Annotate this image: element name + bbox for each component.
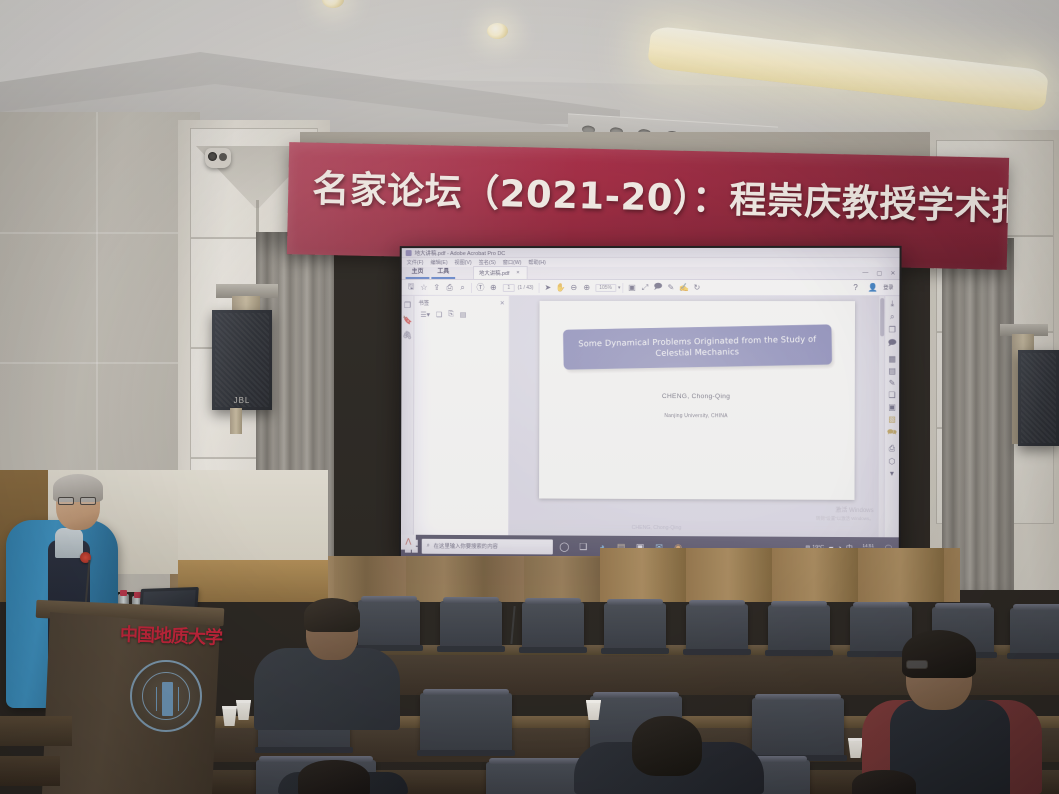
new-bookmark-icon[interactable]: ❏ xyxy=(436,311,442,319)
presenter-shirt-collar xyxy=(55,528,83,558)
slide-title-box: Some Dynamical Problems Originated from … xyxy=(562,324,831,369)
watermark-line2: 转到"设置"以激活 Windows。 xyxy=(816,515,874,523)
menu-sign[interactable]: 签名(S) xyxy=(479,259,496,266)
redact-icon[interactable]: 🗪 xyxy=(887,427,897,441)
account-icon[interactable]: 👤 xyxy=(866,281,879,294)
edit-pdf-icon[interactable]: ▤ xyxy=(888,366,896,375)
minimize-button[interactable]: — xyxy=(862,270,868,277)
slide-title: Some Dynamical Problems Originated from … xyxy=(563,333,832,361)
speaker-grille xyxy=(1021,353,1056,443)
document-tab[interactable]: 地大讲稿.pdf × xyxy=(473,266,527,279)
page-total-label: (1 / 43) xyxy=(518,284,534,290)
acrobat-toolbar: 🖫 ☆ ⇪ ⎙ ⌕ Ⓣ ⊕ 1 (1 / 43) ➤ ✋ ⊖ xyxy=(402,280,900,296)
star-icon[interactable]: ☆ xyxy=(417,281,430,294)
tab-tools[interactable]: 工具 xyxy=(431,265,455,279)
text-icon[interactable]: Ⓣ xyxy=(474,281,487,294)
zoom-control[interactable]: 105% ▾ xyxy=(595,283,620,291)
speaker-brand-label: JBL xyxy=(212,396,272,405)
search-tool-icon[interactable]: ⌕ xyxy=(890,312,895,322)
side-table xyxy=(0,756,60,786)
lecture-hall-photo: JBL 名家论坛（2021-20）：程崇庆教授学术报告会 地大讲稿.pdf - … xyxy=(0,0,1059,794)
window-title: 地大讲稿.pdf - Adobe Acrobat Pro DC xyxy=(415,249,506,257)
chair xyxy=(604,603,666,649)
hand-icon[interactable]: ✋ xyxy=(554,281,567,294)
search-icon[interactable]: ⌕ xyxy=(456,281,469,294)
right-speaker xyxy=(1018,350,1059,446)
chair xyxy=(686,604,748,650)
delete-bookmark-icon[interactable]: ⎘ xyxy=(448,311,454,319)
chair xyxy=(358,600,420,646)
close-icon[interactable]: × xyxy=(516,270,519,276)
bookmarks-header: 书签 ✕ xyxy=(414,296,508,309)
bookmarks-panel: 书签 ✕ ☰▾ ❏ ⎘ ▤ xyxy=(414,296,510,535)
pencil-icon[interactable]: ✎ xyxy=(664,281,677,294)
share-icon[interactable]: ⇪ xyxy=(430,281,443,294)
help-icon[interactable]: ? xyxy=(849,281,862,294)
projection-screen: 地大讲稿.pdf - Adobe Acrobat Pro DC 文件(F) 编辑… xyxy=(399,246,902,562)
bookmarks-icon[interactable]: 🔖 xyxy=(403,316,413,325)
audience-member-hair xyxy=(304,598,360,632)
audience-member-head xyxy=(852,770,916,794)
combine-files-icon[interactable]: ❏ xyxy=(888,391,895,400)
windows-activation-watermark: 激活 Windows 转到"设置"以激活 Windows。 xyxy=(816,507,874,523)
stage-wood-wall-right xyxy=(600,548,960,602)
bookmarks-panel-title: 书签 xyxy=(418,299,429,307)
tab-strip: 主页 工具 地大讲稿.pdf × — ▢ ✕ xyxy=(402,267,900,280)
task-view-icon[interactable]: ❑ xyxy=(576,539,591,554)
export-pdf-icon[interactable]: ⤓ xyxy=(891,299,895,309)
audience-member-torso xyxy=(254,648,400,730)
menu-view[interactable]: 视图(V) xyxy=(454,259,471,266)
menu-window[interactable]: 窗口(W) xyxy=(503,259,522,266)
toolbar-separator xyxy=(538,282,539,292)
stamp-icon[interactable]: ▧ xyxy=(888,415,896,424)
banner-text: 名家论坛（2021-20）：程崇庆教授学术报告会 xyxy=(312,158,1003,230)
downlight xyxy=(487,23,508,39)
slide-author: CHENG, Chong-Qing xyxy=(539,393,854,401)
search-icon: ⌕ xyxy=(427,542,430,549)
page-navigation: 1 (1 / 43) xyxy=(503,283,534,291)
comment-tool-icon[interactable]: 🗩 xyxy=(888,337,897,351)
pdf-page: Some Dynamical Problems Originated from … xyxy=(539,301,855,500)
paper-cup xyxy=(236,700,251,720)
expand-icon[interactable]: ▤ xyxy=(460,311,467,319)
audience-member-glasses xyxy=(906,660,928,669)
acrobat-window: 地大讲稿.pdf - Adobe Acrobat Pro DC 文件(F) 编辑… xyxy=(401,248,900,560)
wall-wood-panel xyxy=(178,560,328,602)
zoom-in-icon[interactable]: ⊕ xyxy=(580,281,593,294)
close-window-button[interactable]: ✕ xyxy=(890,270,895,277)
protect-icon[interactable]: ▣ xyxy=(888,403,896,412)
right-curtain xyxy=(942,238,1014,590)
chair xyxy=(522,602,584,648)
audience-member-head xyxy=(632,716,702,776)
chair xyxy=(850,606,912,652)
download-icon[interactable]: ⊕ xyxy=(487,281,500,294)
toolbar-separator xyxy=(622,282,623,292)
chevron-down-icon[interactable]: ▾ xyxy=(618,284,621,290)
document-tab-label: 地大讲稿.pdf xyxy=(479,269,509,277)
zoom-out-icon[interactable]: ⊖ xyxy=(567,281,580,294)
fullscreen-icon[interactable]: ⤢ xyxy=(638,281,651,294)
university-seal-logo xyxy=(130,660,202,732)
print-production-icon[interactable]: ⎙ xyxy=(889,444,895,454)
attachments-icon[interactable]: 🖇 xyxy=(402,331,412,340)
paper-cup xyxy=(586,700,601,720)
paper-cup xyxy=(222,706,237,726)
acrobat-app-icon xyxy=(406,250,412,256)
toolbar-separator xyxy=(471,282,472,292)
cortana-circle-icon[interactable]: ◯ xyxy=(557,539,572,554)
presenter-glasses xyxy=(58,497,98,505)
acrobat-title-bar: 地大讲稿.pdf - Adobe Acrobat Pro DC xyxy=(402,248,900,258)
close-icon[interactable]: ✕ xyxy=(500,299,505,306)
page-thumbnails-icon[interactable]: ❐ xyxy=(404,301,411,310)
print-icon[interactable]: ⎙ xyxy=(443,281,456,294)
highlight-icon[interactable]: ✍ xyxy=(677,281,690,294)
audience-member-hair xyxy=(902,630,976,678)
save-icon[interactable]: 🖫 xyxy=(405,281,418,294)
options-menu-icon[interactable]: ☰▾ xyxy=(420,311,430,319)
watermark-line1: 激活 Windows xyxy=(816,507,874,515)
chair xyxy=(768,605,830,651)
security-camera-icon xyxy=(205,148,231,168)
chair xyxy=(752,698,844,756)
audience-member-head xyxy=(298,760,370,794)
page-number-input[interactable]: 1 xyxy=(503,283,515,291)
more-tools-icon[interactable]: ▾ xyxy=(890,469,894,478)
fill-sign-icon[interactable]: ✎ xyxy=(889,379,896,388)
projected-image: 地大讲稿.pdf - Adobe Acrobat Pro DC 文件(F) 编辑… xyxy=(401,248,900,560)
side-table xyxy=(0,716,72,746)
window-controls: — ▢ ✕ xyxy=(862,270,895,279)
create-pdf-icon[interactable]: ❐ xyxy=(889,325,896,334)
slide-affiliation: Nanjing University, CHINA xyxy=(539,413,854,420)
rotate-icon[interactable]: ↻ xyxy=(690,281,703,294)
menu-help[interactable]: 帮助(H) xyxy=(528,259,546,266)
maximize-button[interactable]: ▢ xyxy=(877,270,883,277)
search-placeholder: 在这里输入你要搜索的内容 xyxy=(434,542,498,550)
vertical-scrollbar[interactable] xyxy=(878,296,885,537)
navigation-rail: ❐ 🔖 🖇 xyxy=(401,296,414,535)
left-speaker: JBL xyxy=(212,310,272,410)
podium-university-name: 中国地质大学 xyxy=(120,620,221,647)
bookmarks-toolbar: ☰▾ ❏ ⎘ ▤ xyxy=(414,309,508,321)
organize-pages-icon[interactable]: ▦ xyxy=(888,354,896,363)
tools-rail: ⤓ ⌕ ❐ 🗩 ▦ ▤ ✎ ❏ ▣ ▧ 🗪 ⎙ ⬡ ▾ xyxy=(884,296,900,537)
table-microphone-stand xyxy=(510,606,515,644)
toolbar-right-group: ? 👤 登录 xyxy=(849,281,896,294)
speaker-grille xyxy=(215,313,269,407)
select-cursor-icon[interactable]: ➤ xyxy=(541,281,554,294)
paper-cup xyxy=(848,738,863,758)
active-window-label: CHENG, Chong-Qing xyxy=(632,525,682,531)
comment-icon[interactable]: 🗩 xyxy=(651,281,664,294)
chair xyxy=(1010,608,1059,654)
fit-page-icon[interactable]: ▣ xyxy=(625,281,638,294)
zoom-value[interactable]: 105% xyxy=(595,283,616,291)
scrollbar-thumb[interactable] xyxy=(880,298,884,336)
chair xyxy=(420,693,512,751)
acrobat-body: ❐ 🔖 🖇 书签 ✕ ☰▾ ❏ ⎘ ▤ xyxy=(401,296,899,537)
taskbar-search-input[interactable]: ⌕ 在这里输入你要搜索的内容 xyxy=(422,538,553,554)
certificates-icon[interactable]: ⬡ xyxy=(888,457,895,466)
acrobat-icon[interactable]: ᐱ xyxy=(401,535,416,550)
signin-label[interactable]: 登录 xyxy=(883,284,893,291)
chair xyxy=(440,601,502,647)
document-view[interactable]: Some Dynamical Problems Originated from … xyxy=(509,296,884,537)
left-speaker-post xyxy=(230,408,242,434)
tab-home[interactable]: 主页 xyxy=(406,265,430,279)
